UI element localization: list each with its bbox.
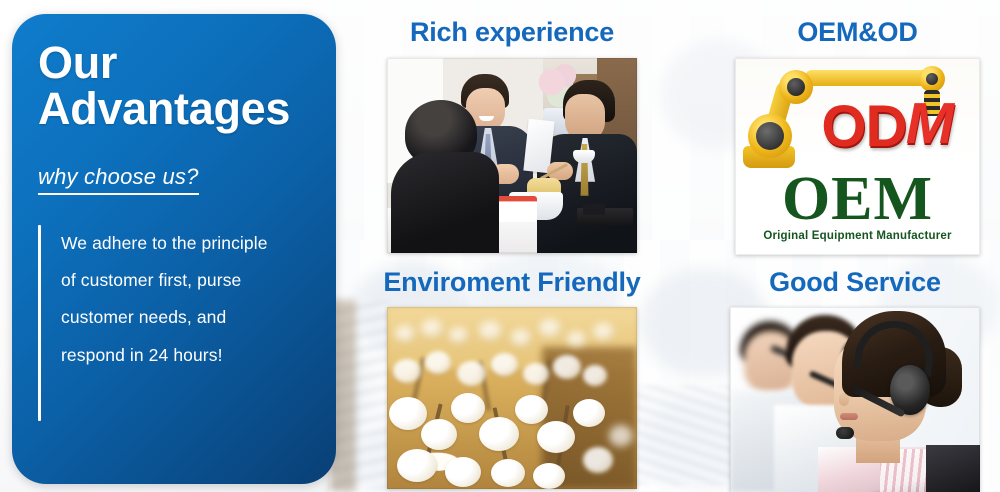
page-title-line-1: Our [38, 37, 117, 88]
robot-arm-joint-inner [756, 122, 784, 150]
page-title-line-2: Advantages [38, 86, 314, 132]
description-text: We adhere to the principle of customer f… [61, 225, 276, 421]
robot-arm-beam [805, 70, 931, 86]
tile-title-good-service: Good Service [710, 268, 1000, 298]
tile-enviroment-friendly: Enviroment Friendly [352, 268, 672, 489]
tile-title-enviroment-friendly: Enviroment Friendly [352, 268, 672, 298]
tile-title-rich-experience: Rich experience [362, 18, 662, 48]
oem-wordmark: OEM [735, 168, 980, 230]
tile-oem-odm: OEM&OD ODM OEM Original Equipment Manufa… [715, 18, 1000, 255]
why-choose-us-subtitle: why choose us? [38, 164, 199, 195]
cotton-field-photo [387, 307, 637, 489]
business-meeting-photo [387, 58, 637, 253]
advantage-tiles-grid: Rich experience [340, 0, 1000, 492]
description-block: We adhere to the principle of customer f… [38, 225, 314, 421]
tile-good-service: Good Service [710, 268, 1000, 492]
odm-wordmark: ODM [795, 98, 980, 156]
oem-subtitle: Original Equipment Manufacturer [735, 230, 980, 242]
tile-rich-experience: Rich experience [362, 18, 662, 253]
our-advantages-panel: Our Advantages why choose us? We adhere … [12, 14, 336, 484]
robot-arm-joint-inner [926, 73, 938, 85]
tile-title-oem-odm: OEM&OD [715, 18, 1000, 48]
call-center-agents-photo [730, 307, 980, 492]
odm-wordmark-m: M [901, 95, 960, 153]
vertical-rule-divider [38, 225, 41, 421]
odm-oem-logo-photo: ODM OEM Original Equipment Manufacturer [735, 58, 980, 255]
headset-microphone [836, 427, 854, 439]
page-title: Our Advantages [38, 40, 314, 132]
odm-wordmark-od: OD [821, 94, 906, 159]
robot-arm-joint-inner [787, 78, 805, 96]
